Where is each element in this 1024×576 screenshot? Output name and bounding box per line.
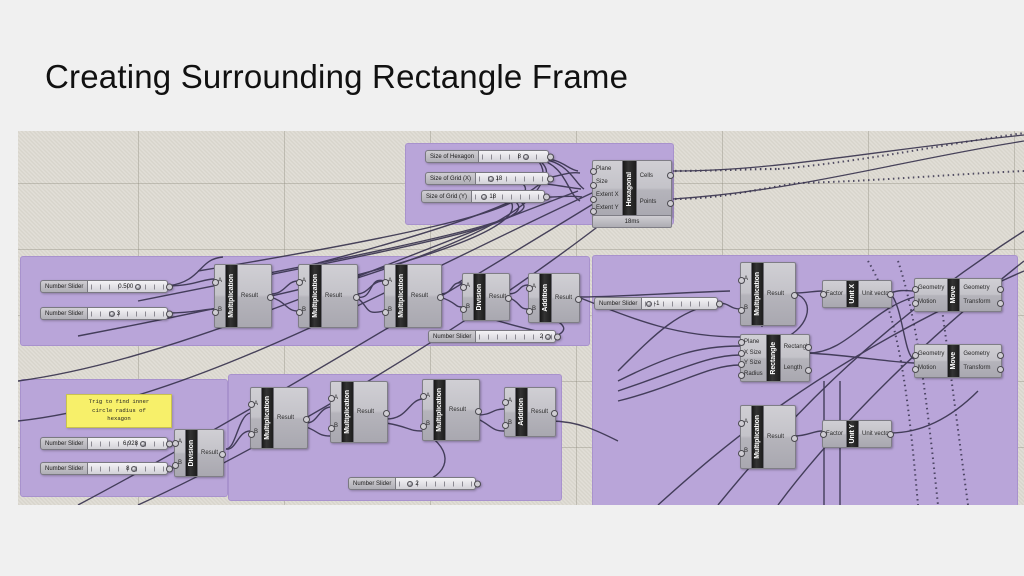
output-ports: Result [238,265,261,327]
output-ports: Result [764,263,787,325]
slider-value-group: 18 [488,176,503,182]
out-nub[interactable] [791,292,798,299]
slider-knob[interactable] [646,301,652,307]
in-nub[interactable] [460,284,467,291]
slider-knob[interactable] [481,194,487,200]
slider-label: Number Slider [40,462,88,475]
component-title-bar[interactable]: Multiplication [261,388,274,448]
input-ports: A B [423,380,433,440]
slider-track[interactable]: 18 [476,172,549,185]
sticky-note-text: Trig to find inner circle radius of hexa… [89,398,149,424]
input-ports: A B [385,265,395,327]
slider-label: Size of Hexagon [425,150,479,163]
slider-value-group: 8 [518,154,529,160]
in-nub[interactable] [912,352,919,359]
in-nub[interactable] [296,279,303,286]
port-result[interactable]: Result [489,294,506,300]
port-result[interactable]: Result [277,415,294,421]
in-nub[interactable] [820,291,827,298]
slider-value-group: 0.500 [118,284,141,290]
out-nub[interactable] [437,294,444,301]
output-ports: Result [528,388,551,436]
slider-track[interactable]: 2 [396,477,476,490]
component-title: Division [188,440,195,466]
slider-number-minus1[interactable]: Number Slider -1 [594,297,718,310]
component-title: Move [950,286,957,304]
slider-knob[interactable] [545,334,551,340]
component-title: Rectangle [770,342,777,375]
grasshopper-canvas[interactable]: Size of Hexagon 8 Size of Grid (X) 18 [18,131,1024,505]
slider-label: Size of Grid (X) [425,172,476,185]
out-nub[interactable] [219,451,226,458]
in-nub[interactable] [738,361,745,368]
slider-value: 8 [518,154,521,160]
component-title: Multiplication [312,274,319,318]
component-unit-y[interactable]: Factor Unit Y Unit vector [822,420,892,448]
output-ports: Result [354,382,377,442]
input-ports: A B [741,263,751,325]
out-nub[interactable] [383,410,390,417]
port-factor[interactable]: Factor [826,291,843,297]
sticky-note[interactable]: Trig to find inner circle radius of hexa… [66,394,172,428]
port-result[interactable]: Result [357,409,374,415]
slider-knob[interactable] [109,311,115,317]
out-nub[interactable] [805,367,812,374]
in-nub[interactable] [738,307,745,314]
in-nub[interactable] [820,431,827,438]
in-nub[interactable] [420,393,427,400]
slider-output-port[interactable] [166,283,173,290]
port-transform[interactable]: Transform [963,365,990,371]
output-ports: Cells Points [637,161,660,217]
out-nub[interactable] [667,172,674,179]
port-result[interactable]: Result [767,434,784,440]
component-title: Multiplication [436,388,443,432]
component-title: Move [950,352,957,370]
component-title-bar[interactable]: Addition [515,388,528,436]
input-ports: A B [251,388,261,448]
port-result[interactable]: Result [449,407,466,413]
in-nub[interactable] [382,309,389,316]
port-result[interactable]: Result [241,293,258,299]
output-ports: Result [322,265,345,327]
port-motion[interactable]: Motion [918,365,936,371]
port-geometry[interactable]: Geometry [918,351,944,357]
component-title-bar[interactable]: Multiplication [433,380,446,440]
component-title-bar[interactable]: Move [947,345,960,377]
component-title-bar[interactable]: Multiplication [395,265,408,327]
slider-value: 3 [117,311,120,317]
component-title: Multiplication [228,274,235,318]
in-nub[interactable] [912,300,919,307]
component-title: Multiplication [344,390,351,434]
port-transform[interactable]: Transform [963,299,990,305]
port-result[interactable]: Result [411,293,428,299]
slider-knob[interactable] [488,176,494,182]
out-nub[interactable] [997,366,1004,373]
port-geometry[interactable]: Geometry [918,285,944,291]
in-nub[interactable] [738,277,745,284]
component-title-bar[interactable]: Hexagonal [622,161,637,217]
slider-value-group: 18 [481,194,496,200]
component-title-bar[interactable]: Move [947,279,960,311]
out-nub[interactable] [805,344,812,351]
component-division-1[interactable]: A B Division Result [462,273,510,321]
port-result[interactable]: Result [531,409,548,415]
in-nub[interactable] [502,399,509,406]
in-nub[interactable] [248,431,255,438]
in-nub[interactable] [590,182,597,189]
in-nub[interactable] [590,208,597,215]
page-title: Creating Surrounding Rectangle Frame [45,58,628,96]
in-nub[interactable] [912,286,919,293]
slider-knob[interactable] [131,466,137,472]
output-ports: Result [274,388,297,448]
component-multiplication-3[interactable]: A B Multiplication Result [384,264,442,328]
in-nub[interactable] [590,168,597,175]
slider-label: Size of Grid (Y) [421,190,472,203]
input-ports: A B [331,382,341,442]
slider-track[interactable]: 6.928 [88,437,168,450]
input-ports: A B [215,265,225,327]
component-title-bar[interactable]: Unit Y [846,421,859,447]
component-multiplication-1[interactable]: A B Multiplication Result [214,264,272,328]
component-title-bar[interactable]: Multiplication [341,382,354,442]
port-plane[interactable]: Plane [744,339,759,345]
slider-value: 18 [496,176,503,182]
in-nub[interactable] [590,196,597,203]
component-title: Unit Y [849,424,856,444]
slider-size-of-hexagon[interactable]: Size of Hexagon 8 [425,150,549,163]
slider-output-port[interactable] [547,175,554,182]
component-rectangle[interactable]: Plane X Size Y Size Radius Rectangle Rec… [740,334,810,382]
component-move-2[interactable]: Geometry Motion Move Geometry Transform [914,344,1002,378]
slider-value-group: 2 [540,334,551,340]
slider-label: Number Slider [428,330,476,343]
output-ports: Result [446,380,469,440]
port-length[interactable]: Length [784,365,802,371]
component-status: 18ms [592,215,672,228]
in-nub[interactable] [460,306,467,313]
slider-label: Number Slider [40,307,88,320]
component-title: Addition [542,284,549,312]
slider-size-of-grid-y[interactable]: Size of Grid (Y) 18 [421,190,545,203]
output-ports: Result [198,430,221,476]
port-extent-y[interactable]: Extent Y [596,205,619,211]
component-addition-2[interactable]: A B Addition Result [504,387,556,437]
in-nub[interactable] [738,450,745,457]
out-nub[interactable] [997,352,1004,359]
port-plane[interactable]: Plane [596,166,611,172]
out-nub[interactable] [267,294,274,301]
port-motion[interactable]: Motion [918,299,936,305]
slider-value-group: -1 [646,301,659,307]
component-title: Multiplication [264,396,271,440]
slider-track[interactable]: -1 [642,297,718,310]
out-nub[interactable] [303,416,310,423]
slider-size-of-grid-x[interactable]: Size of Grid (X) 18 [425,172,549,185]
slider-track[interactable]: 8 [479,150,549,163]
slide: Creating Surrounding Rectangle Frame [0,0,1024,576]
slider-ticks [482,154,545,159]
out-nub[interactable] [551,410,558,417]
in-nub[interactable] [526,285,533,292]
slider-output-port[interactable] [716,300,723,307]
component-move-1[interactable]: Geometry Motion Move Geometry Transform [914,278,1002,312]
slider-value: 2 [540,334,543,340]
component-title-bar[interactable]: Multiplication [751,406,764,468]
slider-label: Number Slider [594,297,642,310]
component-title-bar[interactable]: Rectangle [766,335,781,381]
component-hexagonal[interactable]: Plane Size Extent X Extent Y Hexagonal C… [592,160,672,218]
in-nub[interactable] [172,462,179,469]
in-nub[interactable] [296,309,303,316]
input-ports: Geometry Motion [915,345,947,377]
slider-output-port[interactable] [547,153,554,160]
component-multiplication-7[interactable]: A B Multiplication Result [740,262,796,326]
slider-value: 6.928 [123,441,138,447]
slider-number-2-lower[interactable]: Number Slider 2 [348,477,476,490]
port-cells[interactable]: Cells [640,173,653,179]
input-ports: A B [463,274,473,320]
slider-number-0500[interactable]: Number Slider 0.500 [40,280,168,293]
note-line-2: circle radius of [89,407,149,416]
component-multiplication-2[interactable]: A B Multiplication Result [298,264,358,328]
component-title-bar[interactable]: Multiplication [309,265,322,327]
port-geometry-out[interactable]: Geometry [963,351,989,357]
slider-value: -1 [654,301,659,307]
slider-ticks [91,311,164,316]
component-unit-x[interactable]: Factor Unit X Unit vector [822,280,892,308]
component-title-bar[interactable]: Division [185,430,198,476]
slider-number-8-lower[interactable]: Number Slider 8 [40,462,168,475]
component-title-bar[interactable]: Multiplication [751,263,764,325]
component-addition-1[interactable]: A B Addition Result [528,273,580,323]
component-multiplication-5[interactable]: A B Multiplication Result [330,381,388,443]
component-title: Unit X [849,284,856,304]
slider-track[interactable]: 2 [476,330,556,343]
component-division-2[interactable]: A B Division Result [174,429,224,477]
out-nub[interactable] [791,435,798,442]
slider-value: 8 [126,466,129,472]
output-ports: Geometry Transform [960,345,993,377]
out-nub[interactable] [887,431,894,438]
slider-track[interactable]: 3 [88,307,168,320]
slider-knob[interactable] [135,284,141,290]
slider-knob[interactable] [523,154,529,160]
in-nub[interactable] [502,422,509,429]
slider-knob[interactable] [407,481,413,487]
slider-value: 18 [489,194,496,200]
input-ports: A B [299,265,309,327]
component-title: Multiplication [398,274,405,318]
in-nub[interactable] [526,308,533,315]
slider-value: 2 [415,481,418,487]
in-nub[interactable] [212,309,219,316]
out-nub[interactable] [505,295,512,302]
component-title-bar[interactable]: Addition [539,274,552,322]
in-nub[interactable] [248,401,255,408]
slider-output-port[interactable] [166,310,173,317]
port-y-size[interactable]: Y Size [744,360,761,366]
port-result[interactable]: Result [325,293,342,299]
note-line-3: hexagon [89,415,149,424]
input-ports: A B [741,406,751,468]
in-nub[interactable] [738,350,745,357]
slider-track[interactable]: 8 [88,462,168,475]
output-ports: Geometry Transform [960,279,993,311]
port-factor[interactable]: Factor [826,431,843,437]
out-nub[interactable] [667,200,674,207]
slider-output-port[interactable] [543,193,550,200]
slider-value: 0.500 [118,284,133,290]
port-geometry-out[interactable]: Geometry [963,285,989,291]
slider-output-port[interactable] [554,333,561,340]
component-title: Addition [518,398,525,426]
component-multiplication-4[interactable]: A B Multiplication Result [250,387,308,449]
wire-layer [18,131,1024,505]
output-ports: Result [408,265,431,327]
port-x-size[interactable]: X Size [744,350,761,356]
output-ports: Result [552,274,575,322]
component-title: Hexagonal [626,172,633,207]
port-extent-x[interactable]: Extent X [596,192,619,198]
port-radius[interactable]: Radius [744,371,763,377]
slider-knob[interactable] [140,441,146,447]
in-nub[interactable] [212,279,219,286]
slider-output-port[interactable] [474,480,481,487]
port-result[interactable]: Result [767,291,784,297]
out-nub[interactable] [475,408,482,415]
component-title-bar[interactable]: Division [473,274,486,320]
output-ports: Rectangle Length [781,335,814,381]
out-nub[interactable] [997,286,1004,293]
input-ports: Geometry Motion [915,279,947,311]
component-title: Division [476,284,483,310]
slider-value-group: 3 [109,311,120,317]
slider-track[interactable]: 18 [472,190,545,203]
in-nub[interactable] [328,395,335,402]
component-multiplication-6[interactable]: A B Multiplication Result [422,379,480,441]
in-nub[interactable] [172,440,179,447]
slider-value-group: 2 [407,481,418,487]
port-size[interactable]: Size [596,179,608,185]
in-nub[interactable] [420,423,427,430]
in-nub[interactable] [738,372,745,379]
slider-number-6928[interactable]: Number Slider 6.928 [40,437,168,450]
component-title: Multiplication [754,415,761,459]
in-nub[interactable] [382,279,389,286]
in-nub[interactable] [328,425,335,432]
in-nub[interactable] [738,420,745,427]
out-nub[interactable] [887,291,894,298]
output-ports: Result [764,406,787,468]
slider-track[interactable]: 0.500 [88,280,168,293]
component-title-bar[interactable]: Unit X [846,281,859,307]
slider-value-group: 6.928 [123,441,146,447]
component-title: Multiplication [754,272,761,316]
in-nub[interactable] [912,366,919,373]
out-nub[interactable] [575,296,582,303]
slider-number-3[interactable]: Number Slider 3 [40,307,168,320]
out-nub[interactable] [353,294,360,301]
port-result[interactable]: Result [555,295,572,301]
port-points[interactable]: Points [640,199,657,205]
slider-label: Number Slider [40,280,88,293]
slider-number-2-upper[interactable]: Number Slider 2 [428,330,556,343]
input-ports: Plane Size Extent X Extent Y [593,161,622,217]
out-nub[interactable] [997,300,1004,307]
port-result[interactable]: Result [201,450,218,456]
component-title-bar[interactable]: Multiplication [225,265,238,327]
slider-label: Number Slider [348,477,396,490]
note-line-1: Trig to find inner [89,398,149,407]
slider-value-group: 8 [126,466,137,472]
input-ports: A B [175,430,185,476]
component-multiplication-8[interactable]: A B Multiplication Result [740,405,796,469]
in-nub[interactable] [738,339,745,346]
slider-label: Number Slider [40,437,88,450]
